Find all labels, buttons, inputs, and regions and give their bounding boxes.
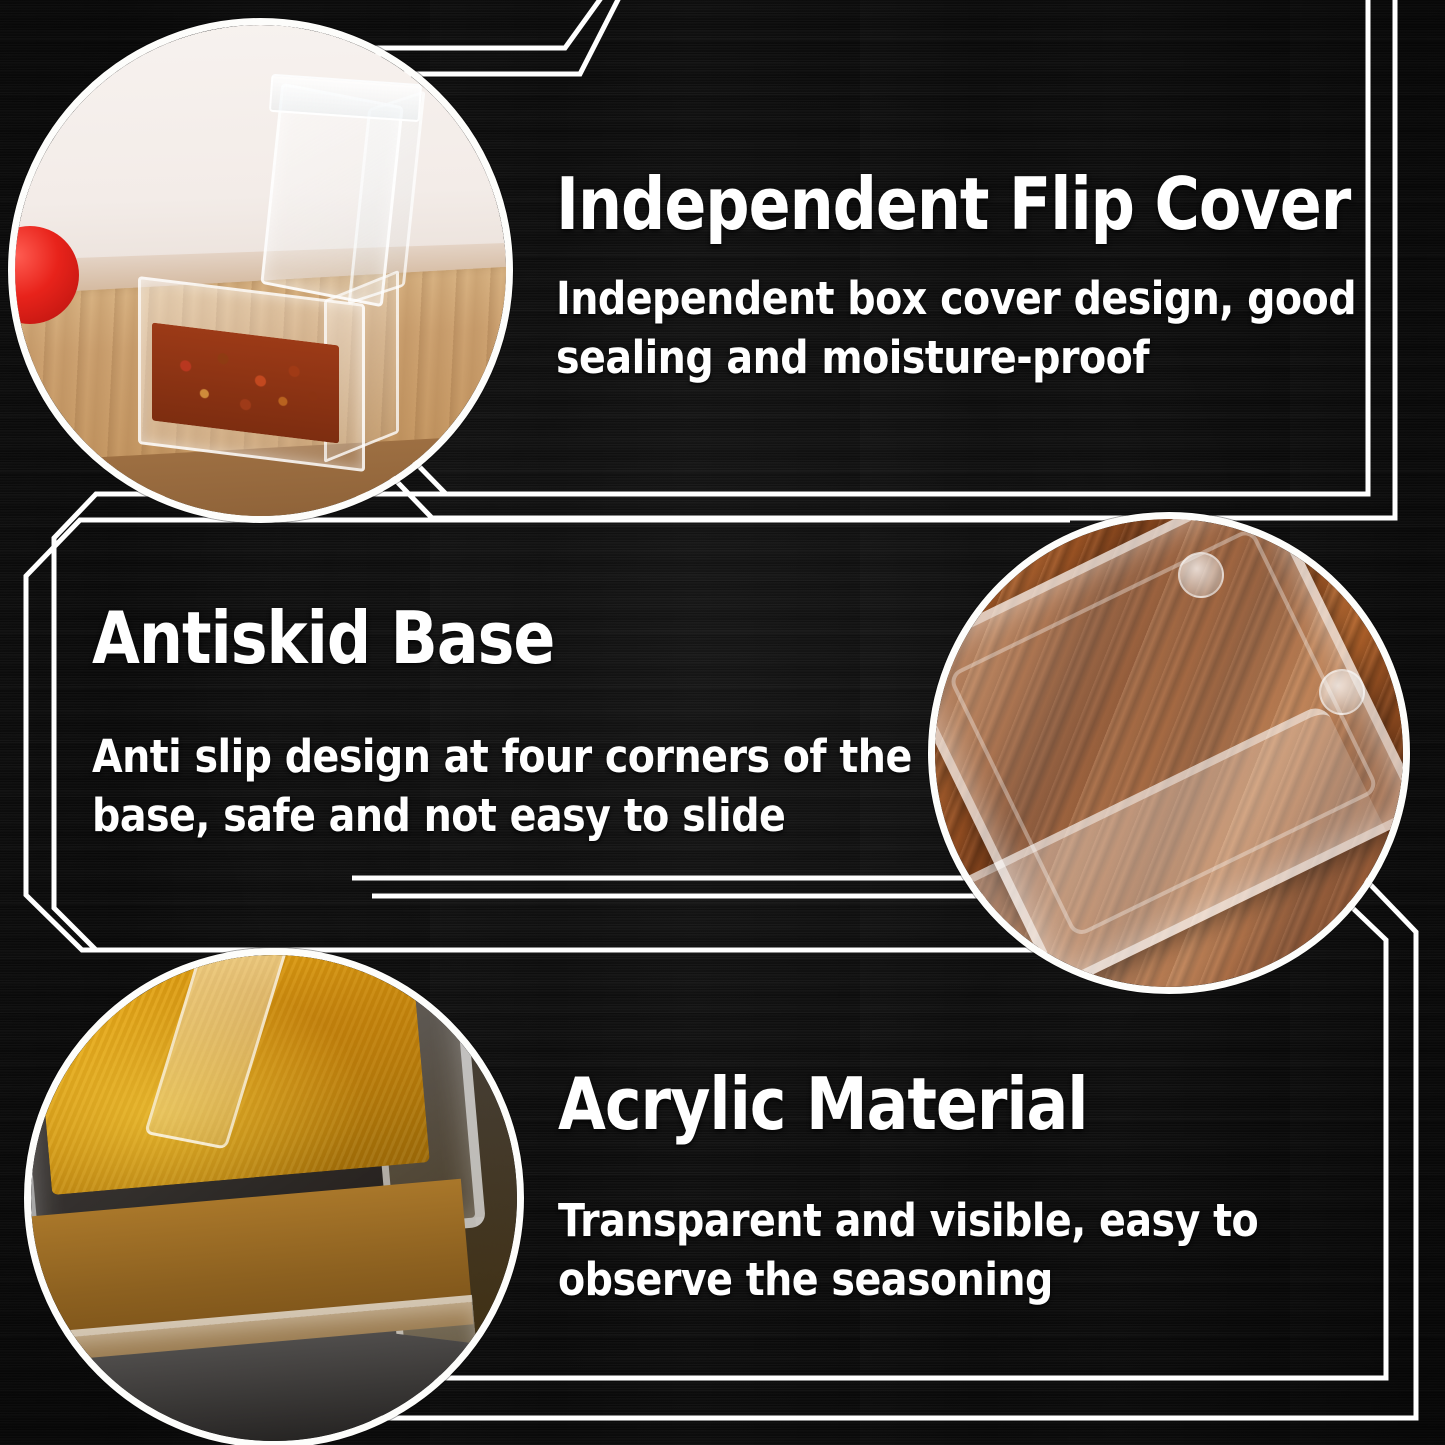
- feature-1-title: Independent Flip Cover: [556, 168, 1399, 240]
- feature-photo-1: [8, 18, 513, 523]
- feature-3-title: Acrylic Material: [558, 1068, 1401, 1140]
- feature-2-title: Antiskid Base: [92, 602, 935, 674]
- feature-2-description: Anti slip design at four corners of the …: [92, 728, 954, 845]
- antislip-pad-1: [1178, 552, 1224, 598]
- feature-photo-3: [24, 948, 524, 1445]
- antislip-pad-2: [1319, 669, 1365, 715]
- feature-3-description: Transparent and visible, easy to observe…: [558, 1192, 1420, 1309]
- feature-1-description: Independent box cover design, good seali…: [556, 270, 1418, 387]
- feature-photo-2: [928, 512, 1410, 994]
- infographic-canvas: Independent Flip Cover Independent box c…: [0, 0, 1445, 1445]
